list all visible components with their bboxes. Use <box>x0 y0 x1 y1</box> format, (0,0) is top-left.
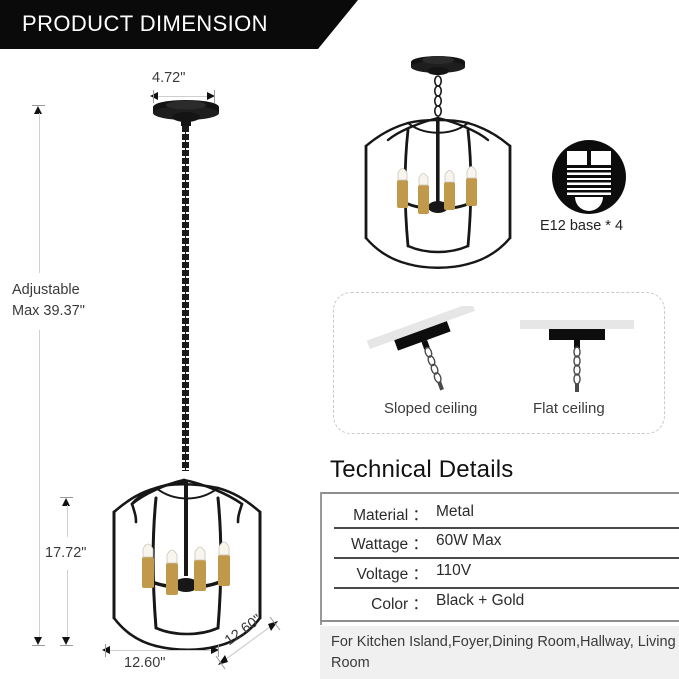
row-label-voltage: Voltage ： <box>320 562 428 584</box>
table-top-rule <box>320 492 679 494</box>
height-bottom-cap <box>60 645 73 646</box>
row-value-color: Black + Gold <box>436 592 524 610</box>
height-line-lower <box>67 570 68 637</box>
row-value-wattage: 60W Max <box>436 532 501 550</box>
row-label-wattage: Wattage ： <box>320 532 428 554</box>
sloped-ceiling-label: Sloped ceiling <box>384 400 477 417</box>
height-line-upper <box>67 505 68 537</box>
adjustable-line-lower <box>39 330 40 637</box>
row-divider-1 <box>334 527 679 529</box>
shade-width-left-arrow <box>102 646 110 654</box>
row-divider-2 <box>334 557 679 559</box>
row-label-material: Material ： <box>320 503 428 525</box>
lantern-pendant-secondary <box>350 50 526 282</box>
flat-ceiling-mount-icon <box>512 314 642 398</box>
page-title: PRODUCT DIMENSION <box>22 11 268 37</box>
usage-note-text: For Kitchen Island,Foyer,Dining Room,Hal… <box>331 632 679 674</box>
sloped-ceiling-mount-icon <box>364 306 494 396</box>
product-dimension-infographic: PRODUCT DIMENSION Adjustable Max 39.37" … <box>0 0 679 679</box>
shade-width-line <box>106 650 218 651</box>
row-label-color: Color ： <box>320 592 428 614</box>
canopy-width-label: 4.72" <box>152 70 185 86</box>
row-value-voltage: 110V <box>436 562 471 580</box>
shade-width-label: 12.60" <box>124 655 165 671</box>
e12-base-caption: E12 base * 4 <box>540 218 623 234</box>
row-value-material: Metal <box>436 503 474 521</box>
height-bottom-arrow <box>62 637 70 645</box>
canopy-width-line <box>154 96 214 97</box>
shade-height-label: 17.72" <box>45 545 86 561</box>
ceiling-canopy <box>148 98 224 128</box>
shade-width-left-cap <box>105 644 106 657</box>
adjustable-bottom-cap <box>32 645 45 646</box>
table-bottom-rule <box>320 620 679 622</box>
adjustable-label-line1: Adjustable <box>12 282 80 298</box>
e12-socket-icon <box>551 139 627 215</box>
row-divider-3 <box>334 587 679 589</box>
adjustable-label-line2: Max 39.37" <box>12 303 85 319</box>
adjustable-bottom-arrow <box>34 637 42 645</box>
flat-ceiling-label: Flat ceiling <box>533 400 605 417</box>
adjustable-line-upper <box>39 113 40 273</box>
hanging-chain <box>182 126 189 471</box>
technical-details-title: Technical Details <box>330 456 513 484</box>
